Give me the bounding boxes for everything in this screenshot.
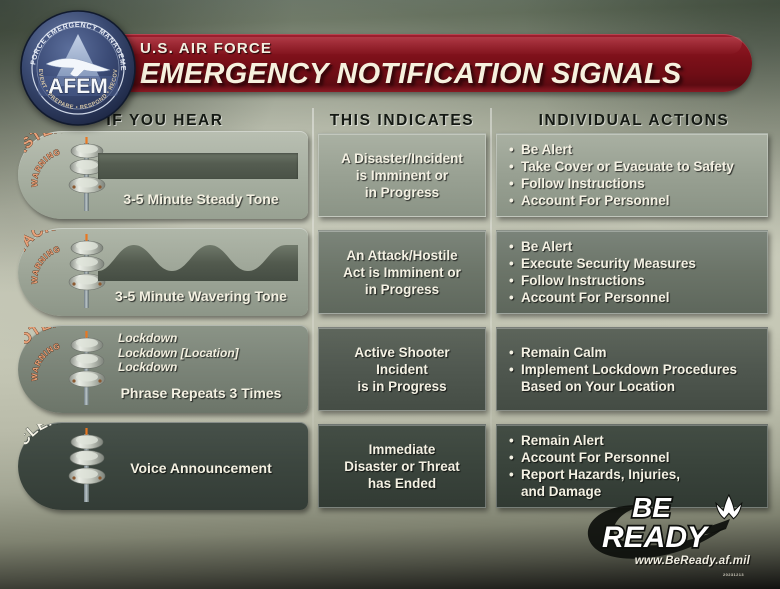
hear-caption: 3-5 Minute Wavering Tone: [92, 288, 310, 304]
header-kicker: U.S. AIR FORCE: [140, 40, 681, 58]
indicates-line: An Attack/Hostile: [343, 247, 461, 264]
action-item: Account For Personnel: [509, 192, 734, 209]
warning-label-sub: WARNING: [30, 244, 62, 284]
signal-row-attack: ATTACK WARNING: [0, 228, 780, 316]
warning-label-sub: WARNING: [30, 147, 62, 187]
poster-canvas: U.S. AIR FORCE EMERGENCY NOTIFICATION SI…: [0, 0, 780, 589]
page-title: EMERGENCY NOTIFICATION SIGNALS: [140, 58, 681, 91]
be-ready-code: 20231213: [723, 572, 744, 577]
warning-label-main: SHOOTER: [24, 327, 64, 380]
action-item: Remain Alert: [509, 432, 680, 449]
lockdown-line: Lockdown: [118, 331, 314, 346]
hear-caption: Phrase Repeats 3 Times: [92, 385, 310, 401]
action-item: Be Alert: [509, 238, 696, 255]
indicates-box: A Disaster/Incident is Imminent or in Pr…: [318, 133, 486, 217]
indicates-line: Disaster or Threat: [344, 458, 460, 475]
hear-panel: ALL CLEAR Voice Announcement: [18, 422, 308, 510]
header-text-group: U.S. AIR FORCE EMERGENCY NOTIFICATION SI…: [140, 40, 681, 91]
hear-panel: ATTACK WARNING: [18, 228, 308, 316]
action-item: Be Alert: [509, 141, 734, 158]
air-force-symbol-icon: [716, 495, 742, 519]
action-item: Take Cover or Evacuate to Safety: [509, 158, 734, 175]
action-item-continuation: Based on Your Location: [509, 378, 737, 395]
indicates-box: An Attack/Hostile Act is Imminent or in …: [318, 230, 486, 314]
actions-list: Be Alert Execute Security Measures Follo…: [509, 238, 696, 306]
actions-box: Be Alert Take Cover or Evacuate to Safet…: [496, 133, 768, 217]
warning-label-main: DISASTER: [24, 133, 65, 187]
indicates-text: Immediate Disaster or Threat has Ended: [344, 441, 460, 492]
tone-graphic-steady: [98, 140, 298, 190]
indicates-text: A Disaster/Incident is Imminent or in Pr…: [341, 150, 463, 201]
indicates-line: is in Progress: [354, 378, 449, 395]
column-header-this-indicates: THIS INDICATES: [316, 112, 488, 130]
hear-caption: Voice Announcement: [92, 460, 310, 476]
be-ready-url[interactable]: www.BeReady.af.mil: [635, 555, 750, 567]
action-item: Account For Personnel: [509, 289, 696, 306]
signal-row-disaster: DISASTER WARNING: [0, 131, 780, 219]
hear-caption: 3-5 Minute Steady Tone: [92, 191, 310, 207]
lockdown-line: Lockdown [Location]: [118, 346, 314, 361]
action-item: Follow Instructions: [509, 175, 734, 192]
column-header-individual-actions: INDIVIDUAL ACTIONS: [494, 112, 774, 130]
wavering-tone-wave: [98, 237, 298, 287]
actions-list: Be Alert Take Cover or Evacuate to Safet…: [509, 141, 734, 209]
indicates-line: Immediate: [344, 441, 460, 458]
signal-row-shooter: SHOOTER WARNING Lockdown Lockdown [: [0, 325, 780, 413]
indicates-line: A Disaster/Incident: [341, 150, 463, 167]
hear-panel: SHOOTER WARNING Lockdown Lockdown [: [18, 325, 308, 413]
indicates-line: Active Shooter: [354, 344, 449, 361]
indicates-line: has Ended: [344, 475, 460, 492]
actions-list: Remain Calm Implement Lockdown Procedure…: [509, 344, 737, 395]
steady-tone-bar: [98, 153, 298, 179]
warning-label-sub: WARNING: [30, 341, 62, 381]
be-ready-line2: READY: [602, 521, 710, 554]
action-item: Follow Instructions: [509, 272, 696, 289]
actions-box: Be Alert Execute Security Measures Follo…: [496, 230, 768, 314]
action-item: Execute Security Measures: [509, 255, 696, 272]
lockdown-line: Lockdown: [118, 360, 314, 375]
tone-graphic-wavering: [98, 237, 298, 287]
action-item: Report Hazards, Injuries,: [509, 466, 680, 483]
seal-acronym: AFEM: [48, 75, 108, 98]
indicates-line: Act is Imminent or: [343, 264, 461, 281]
action-item: Implement Lockdown Procedures: [509, 361, 737, 378]
be-ready-line1: BE: [632, 492, 672, 523]
indicates-line: in Progress: [341, 184, 463, 201]
warning-label-main: ATTACK: [24, 230, 57, 274]
indicates-box: Active Shooter Incident is in Progress: [318, 327, 486, 411]
indicates-text: Active Shooter Incident is in Progress: [354, 344, 449, 395]
indicates-line: Incident: [354, 361, 449, 378]
indicates-line: is Imminent or: [341, 167, 463, 184]
action-item: Account For Personnel: [509, 449, 680, 466]
indicates-box: Immediate Disaster or Threat has Ended: [318, 424, 486, 508]
lockdown-phrase-block: Lockdown Lockdown [Location] Lockdown: [118, 331, 314, 375]
actions-box: Remain Calm Implement Lockdown Procedure…: [496, 327, 768, 411]
afem-seal-logo: AFEM AIR FORCE EMERGENCY MANAGEMENT PREV…: [18, 8, 138, 128]
indicates-line: in Progress: [343, 281, 461, 298]
action-item: Remain Calm: [509, 344, 737, 361]
indicates-text: An Attack/Hostile Act is Imminent or in …: [343, 247, 461, 298]
hear-panel: DISASTER WARNING: [18, 131, 308, 219]
